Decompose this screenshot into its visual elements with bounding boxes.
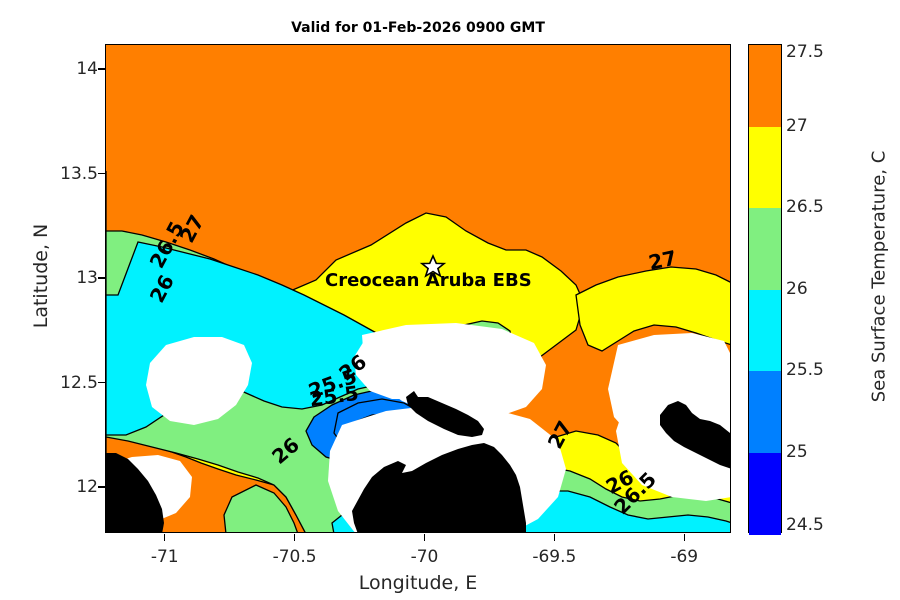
x-tick-mark — [554, 534, 555, 541]
colorbar-tick-label: 26 — [786, 279, 808, 299]
y-tick-mark — [98, 173, 105, 174]
y-tick-label: 14 — [38, 59, 98, 79]
colorbar-band — [749, 208, 781, 290]
x-tick-mark — [164, 534, 165, 541]
colorbar-band — [749, 371, 781, 453]
colorbar — [748, 44, 782, 533]
colorbar-band — [749, 453, 781, 535]
x-tick-label: -71 — [120, 547, 210, 567]
colorbar-band — [749, 290, 781, 372]
colorbar-tick-label: 25 — [786, 442, 808, 462]
x-tick-mark — [294, 534, 295, 541]
colorbar-title: Sea Surface Temperature, C — [869, 127, 890, 427]
sst-contour-figure: Valid for 01-Feb-2026 0900 GMT — [0, 0, 900, 600]
x-axis-ticks: -71-70.5-70-69.5-69 — [105, 541, 731, 571]
colorbar-tick-label: 27 — [786, 116, 808, 136]
colorbar-tick-label: 24.5 — [786, 515, 824, 535]
y-tick-label: 12 — [38, 477, 98, 497]
x-tick-label: -69 — [639, 547, 729, 567]
x-axis-title: Longitude, E — [105, 572, 731, 594]
colorbar-band — [749, 45, 781, 127]
y-tick-mark — [98, 486, 105, 487]
x-tick-mark — [424, 534, 425, 541]
colorbar-tick-label: 26.5 — [786, 197, 824, 217]
x-tick-label: -70 — [379, 547, 469, 567]
y-tick-mark — [98, 382, 105, 383]
x-tick-label: -70.5 — [250, 547, 340, 567]
x-tick-mark — [684, 534, 685, 541]
y-axis-title: Latitude, N — [30, 156, 52, 396]
colorbar-tick-label: 25.5 — [786, 360, 824, 380]
station-name-label: Creocean Aruba EBS — [325, 270, 532, 291]
colorbar-tick-label: 27.5 — [786, 42, 824, 62]
colorbar-band — [749, 127, 781, 209]
y-tick-mark — [98, 277, 105, 278]
page-title: Valid for 01-Feb-2026 0900 GMT — [105, 20, 731, 36]
x-tick-label: -69.5 — [509, 547, 599, 567]
colorbar-tick-labels: 27.52726.52625.52524.5 — [786, 44, 856, 533]
y-tick-mark — [98, 68, 105, 69]
